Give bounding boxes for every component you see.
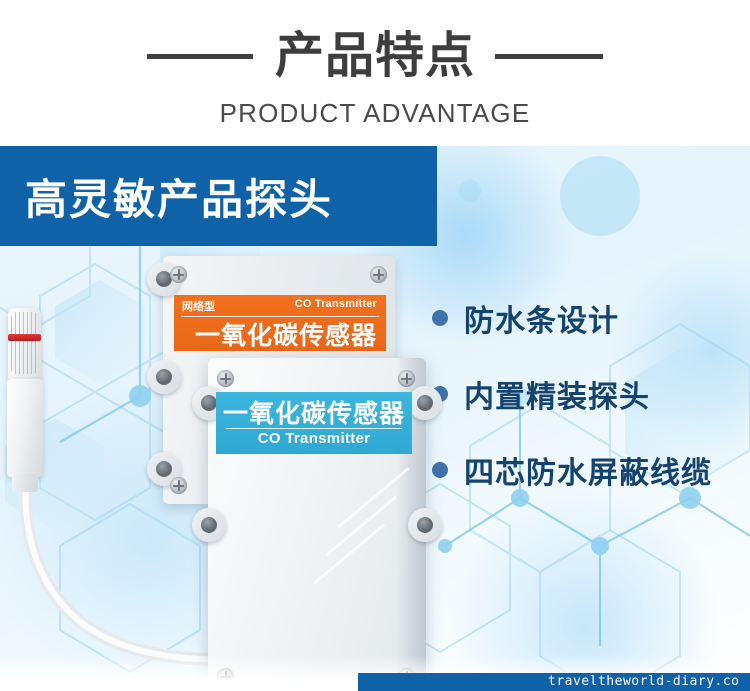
corner-screw	[398, 370, 415, 387]
bullet-dot-icon	[432, 462, 448, 478]
corner-screw	[170, 266, 187, 283]
bullet-dot-icon	[432, 310, 448, 326]
title-rule-right	[495, 54, 603, 59]
probe-vent-grill	[11, 312, 38, 374]
product-name-cn: 一氧化碳传感器	[195, 316, 377, 351]
product-label-cyan: 一氧化碳传感器 CO Transmitter	[216, 392, 412, 454]
sensor-probe-body	[7, 379, 43, 477]
model-en-text: CO Transmitter	[216, 430, 412, 447]
mounting-lug	[147, 360, 181, 394]
product-name-cn: 一氧化碳传感器	[216, 394, 412, 430]
network-type-text: 网络型	[182, 298, 215, 314]
feature-item: 四芯防水屏蔽线缆	[432, 448, 750, 492]
title-row: 产品特点	[0, 26, 750, 86]
feature-list: 防水条设计 内置精装探头 四芯防水屏蔽线缆	[432, 296, 750, 524]
label-top-row: 网络型 CO Transmitter	[174, 295, 386, 316]
product-showcase-panel: 高灵敏产品探头 防水条设计 内置精装探头 四芯防水屏蔽线缆	[0, 146, 750, 691]
probe-red-ring	[8, 334, 41, 341]
feature-item: 内置精装探头	[432, 372, 750, 416]
headline-banner: 高灵敏产品探头	[0, 146, 437, 246]
corner-screw	[217, 370, 234, 387]
corner-screw	[170, 477, 187, 494]
title-rule-left	[147, 54, 253, 59]
product-advantage-page: 产品特点 PRODUCT ADVANTAGE	[0, 0, 750, 691]
page-title: 产品特点	[275, 28, 475, 84]
mounting-lug	[192, 508, 226, 542]
corner-screw	[370, 266, 387, 283]
feature-item: 防水条设计	[432, 296, 750, 340]
page-subtitle: PRODUCT ADVANTAGE	[0, 98, 750, 129]
probe-cable-neck	[12, 474, 38, 492]
model-en-text: CO Transmitter	[295, 298, 377, 310]
product-label-orange: 网络型 CO Transmitter 一氧化碳传感器	[174, 295, 386, 351]
label-divider	[226, 428, 402, 429]
page-header: 产品特点 PRODUCT ADVANTAGE	[0, 0, 750, 146]
watermark-text: traveltheworld-diary.co	[548, 674, 740, 689]
feature-label: 内置精装探头	[464, 372, 650, 416]
mounting-lug	[408, 508, 442, 542]
headline-banner-text: 高灵敏产品探头	[25, 166, 333, 227]
feature-label: 四芯防水屏蔽线缆	[464, 448, 712, 492]
mounting-lug	[408, 386, 442, 420]
feature-label: 防水条设计	[464, 296, 619, 340]
sensor-probe-head	[8, 308, 41, 380]
